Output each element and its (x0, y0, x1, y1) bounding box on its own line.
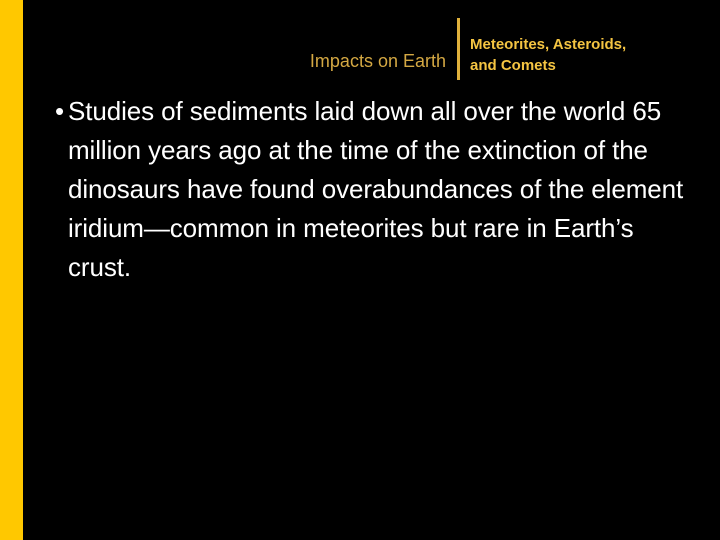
header-deck-title-line-1: Meteorites, Asteroids, (470, 34, 718, 55)
slide-body: • Studies of sediments laid down all ove… (42, 92, 702, 287)
header-deck-title: Meteorites, Asteroids, and Comets (470, 34, 718, 76)
header-section-title: Impacts on Earth (140, 50, 446, 72)
slide-header: Impacts on Earth Meteorites, Asteroids, … (0, 0, 720, 88)
bullet-text: Studies of sediments laid down all over … (68, 92, 686, 287)
header-divider (457, 18, 460, 80)
slide-canvas: Impacts on Earth Meteorites, Asteroids, … (0, 0, 720, 540)
header-deck-title-line-2: and Comets (470, 55, 718, 76)
list-item: • Studies of sediments laid down all ove… (42, 92, 702, 287)
bullet-marker-icon: • (42, 92, 68, 131)
